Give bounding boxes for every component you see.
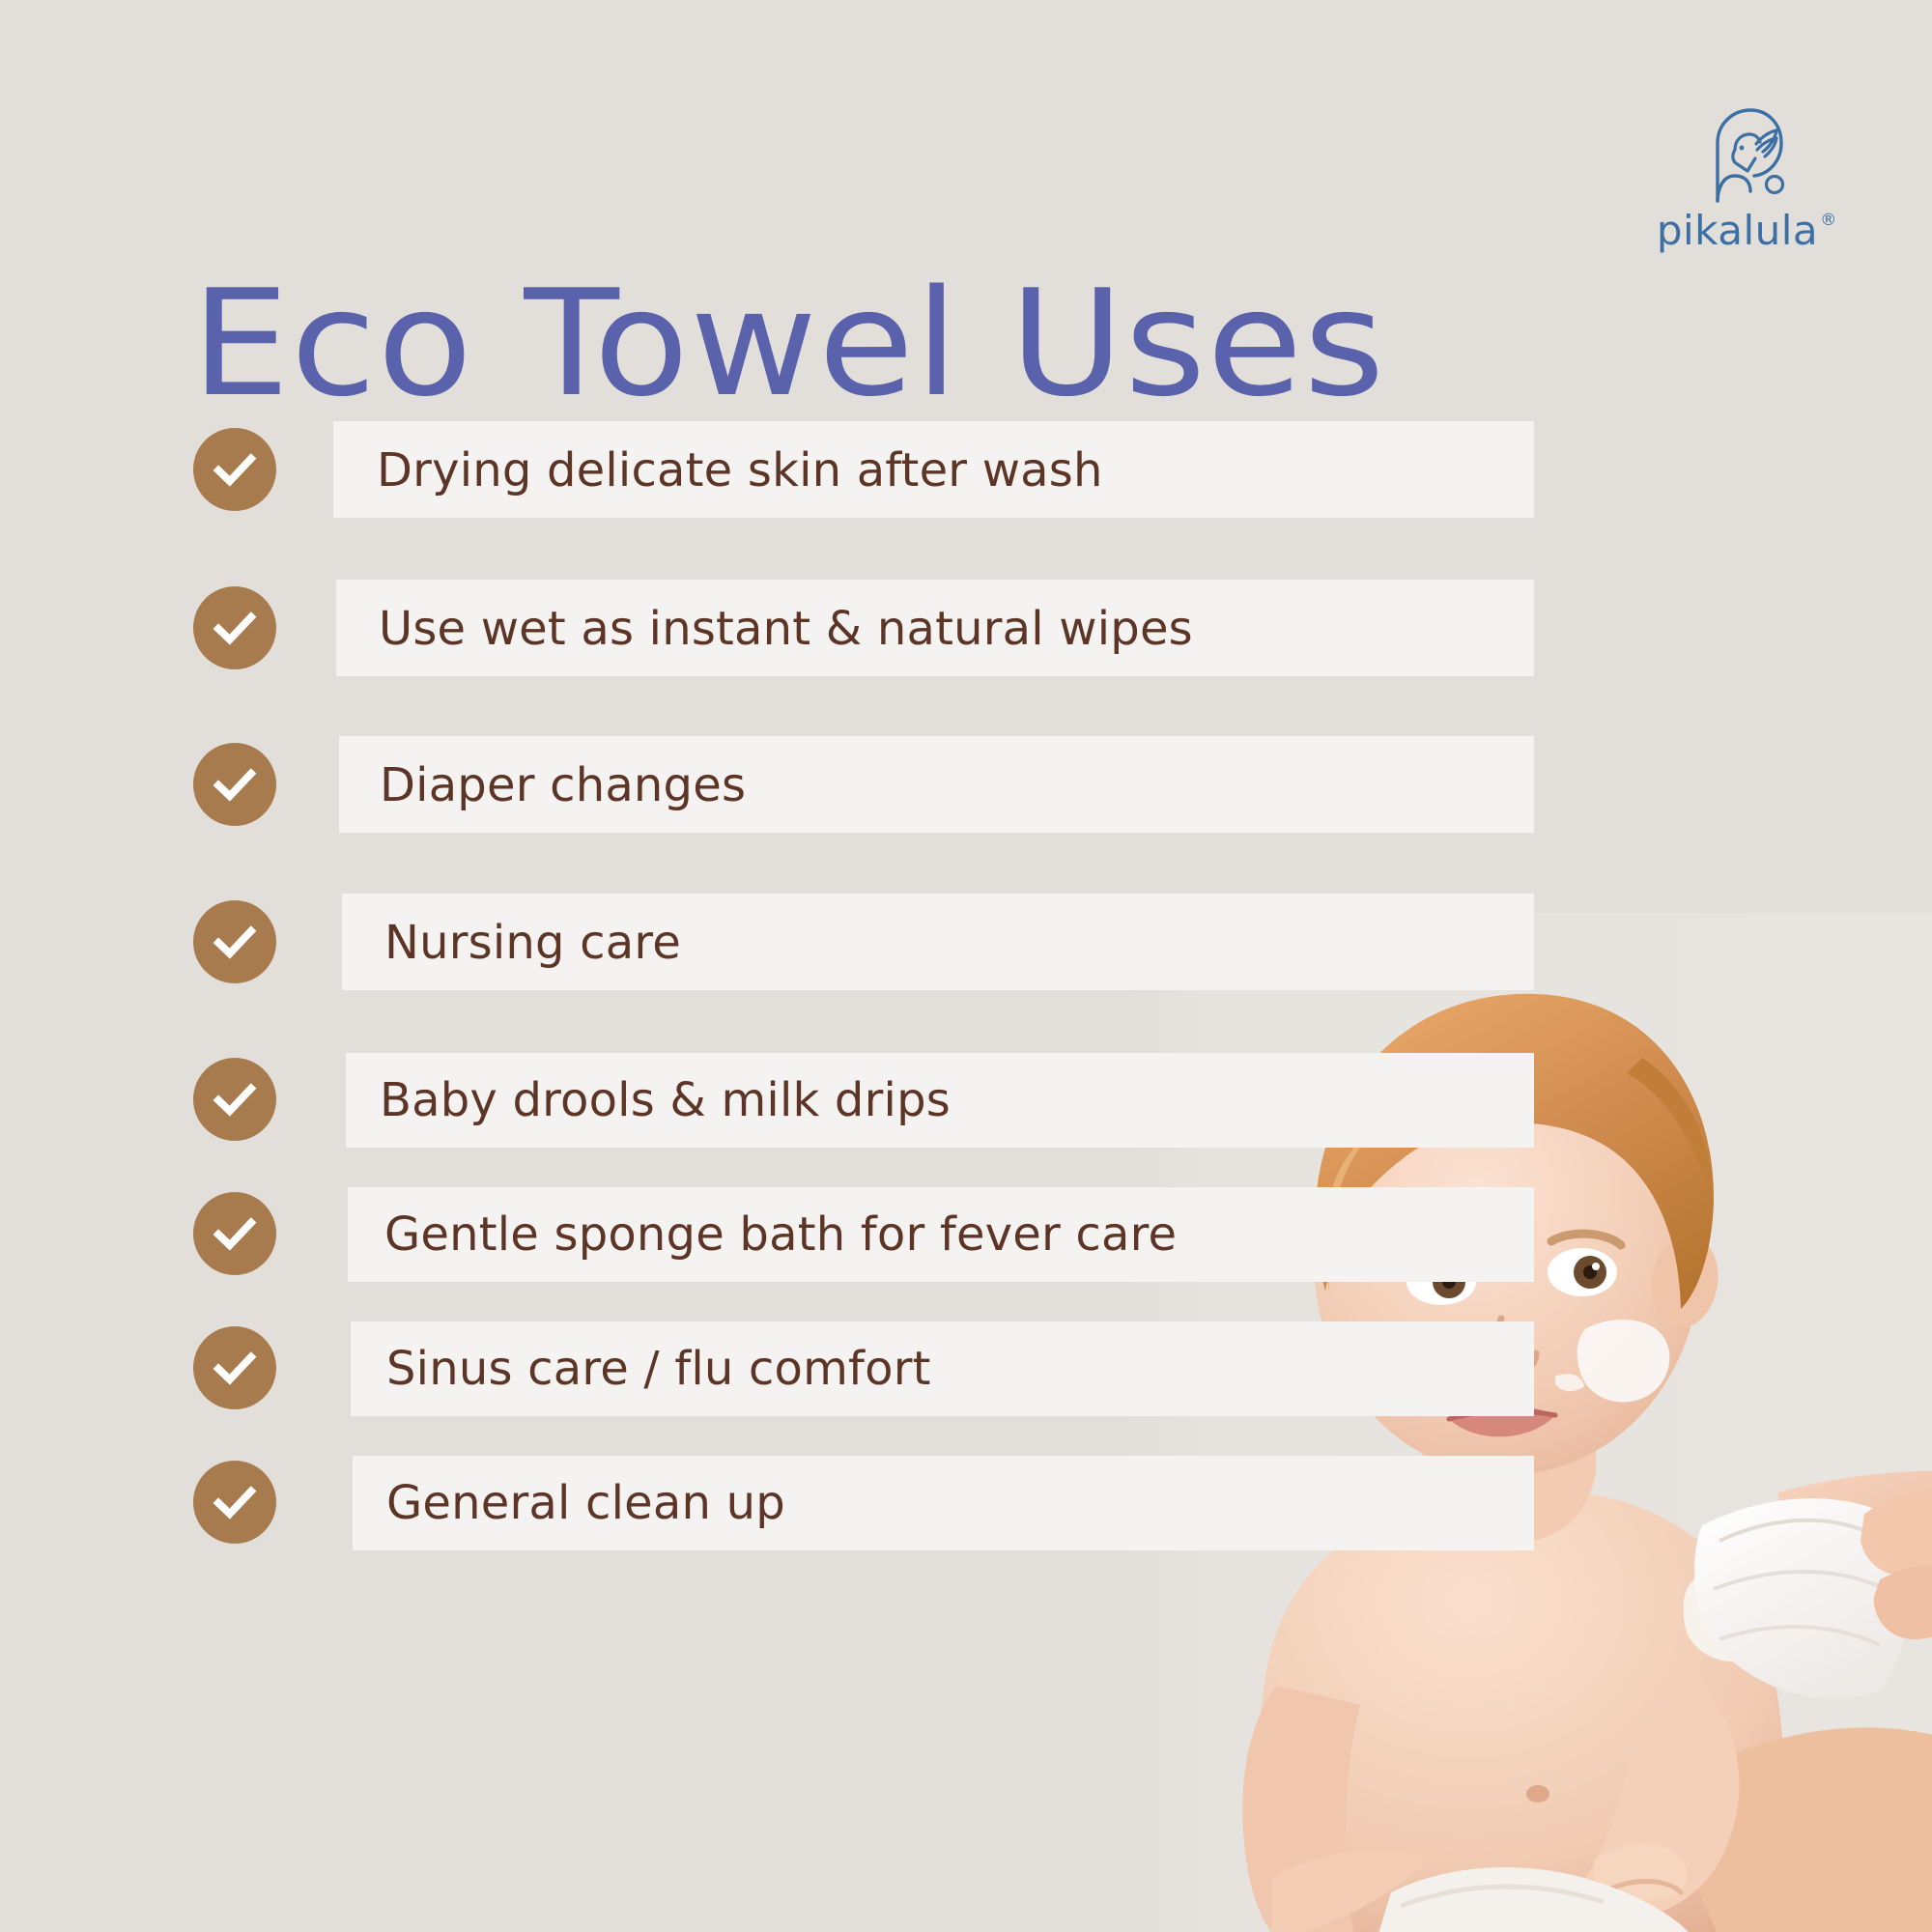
uses-checklist: Drying delicate skin after wash Use wet … bbox=[0, 0, 1932, 1932]
checklist-item-label: Diaper changes bbox=[380, 762, 746, 809]
checkmark-icon bbox=[193, 1058, 276, 1141]
checklist-item-label: Use wet as instant & natural wipes bbox=[379, 606, 1193, 652]
poster-canvas: pikalula ® Eco Towel Uses bbox=[0, 0, 1932, 1932]
checkmark-icon bbox=[193, 586, 276, 669]
checklist-item-label: Nursing care bbox=[384, 920, 681, 966]
checklist-item-label: Drying delicate skin after wash bbox=[377, 447, 1103, 494]
checkmark-icon bbox=[193, 1461, 276, 1544]
checklist-item-label: General clean up bbox=[386, 1480, 785, 1526]
checkmark-icon bbox=[193, 1326, 276, 1409]
checkmark-icon bbox=[193, 900, 276, 983]
checklist-item-label: Sinus care / flu comfort bbox=[386, 1346, 931, 1392]
checkmark-icon bbox=[193, 428, 276, 511]
checkmark-icon bbox=[193, 743, 276, 826]
checklist-item-label: Baby drools & milk drips bbox=[380, 1077, 951, 1123]
checkmark-icon bbox=[193, 1192, 276, 1275]
checklist-item-label: Gentle sponge bath for fever care bbox=[384, 1211, 1177, 1258]
